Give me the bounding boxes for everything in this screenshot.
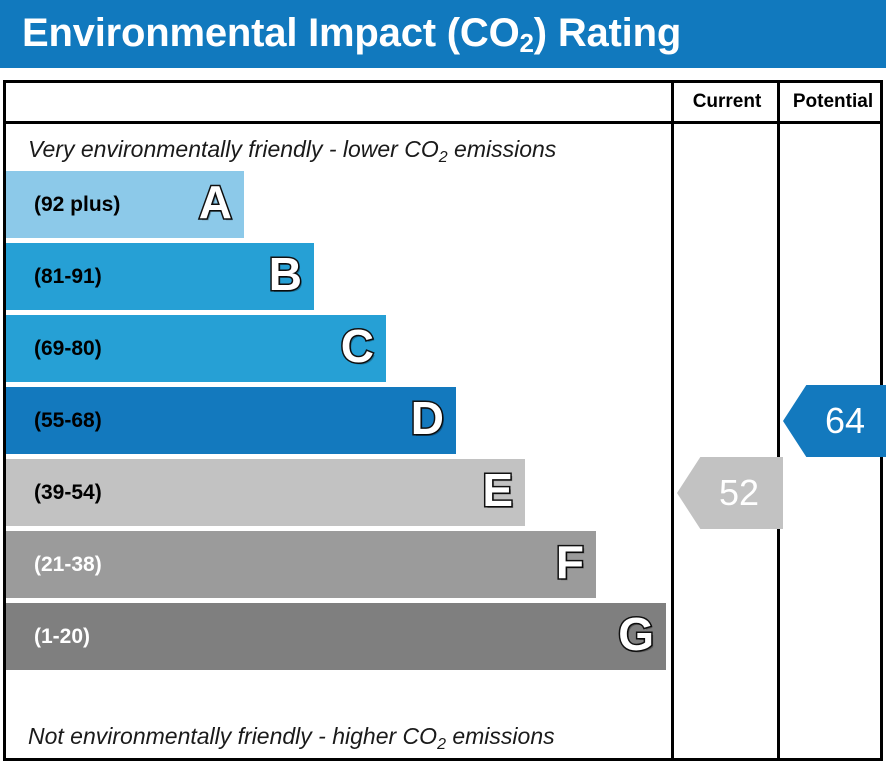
epc-environmental-impact-chart: Environmental Impact (CO2) Rating Curren… bbox=[0, 0, 886, 764]
band-bar-list: (92 plus) A (81-91) B (69-80) C bbox=[6, 171, 671, 675]
column-divider-potential bbox=[777, 124, 780, 758]
caption-top-tail: emissions bbox=[448, 136, 557, 162]
potential-rating-arrow: 64 bbox=[783, 385, 886, 457]
column-divider-current bbox=[671, 124, 674, 758]
band-row-a: (92 plus) A bbox=[6, 171, 671, 238]
band-graph: Very environmentally friendly - lower CO… bbox=[6, 124, 671, 758]
band-bar-a: (92 plus) A bbox=[6, 171, 244, 238]
caption-top-subscript: 2 bbox=[439, 149, 448, 166]
band-bar-b: (81-91) B bbox=[6, 243, 314, 310]
band-letter-b: B bbox=[269, 243, 302, 310]
column-header-current: Current bbox=[671, 83, 780, 121]
band-letter-f: F bbox=[556, 531, 584, 598]
band-bar-f: (21-38) F bbox=[6, 531, 596, 598]
column-header-potential: Potential bbox=[777, 83, 886, 121]
band-range-g: (1-20) bbox=[34, 603, 90, 670]
band-bar-d: (55-68) D bbox=[6, 387, 456, 454]
page-title: Environmental Impact (CO2) Rating bbox=[22, 7, 681, 63]
band-range-f: (21-38) bbox=[34, 531, 102, 598]
caption-bottom-tail: emissions bbox=[446, 723, 555, 749]
band-range-c: (69-80) bbox=[34, 315, 102, 382]
band-letter-a: A bbox=[199, 171, 232, 238]
band-bar-e: (39-54) E bbox=[6, 459, 525, 526]
band-bar-c: (69-80) C bbox=[6, 315, 386, 382]
band-range-e: (39-54) bbox=[34, 459, 102, 526]
caption-top: Very environmentally friendly - lower CO… bbox=[28, 136, 556, 163]
band-letter-d: D bbox=[411, 387, 444, 454]
current-rating-arrow: 52 bbox=[677, 457, 783, 529]
band-letter-c: C bbox=[341, 315, 374, 382]
rating-table: Current Potential Very environmentally f… bbox=[3, 80, 883, 761]
page-title-subscript: 2 bbox=[520, 28, 534, 58]
table-header-row: Current Potential bbox=[6, 83, 880, 124]
title-banner: Environmental Impact (CO2) Rating bbox=[0, 0, 886, 68]
band-bar-g: (1-20) G bbox=[6, 603, 666, 670]
band-letter-g: G bbox=[618, 603, 654, 670]
band-row-g: (1-20) G bbox=[6, 603, 671, 670]
caption-bottom-subscript: 2 bbox=[437, 736, 446, 753]
caption-top-main: Very environmentally friendly - lower CO bbox=[28, 136, 439, 162]
caption-bottom: Not environmentally friendly - higher CO… bbox=[28, 723, 555, 750]
band-letter-e: E bbox=[482, 459, 513, 526]
band-row-c: (69-80) C bbox=[6, 315, 671, 382]
band-range-a: (92 plus) bbox=[34, 171, 120, 238]
caption-bottom-main: Not environmentally friendly - higher CO bbox=[28, 723, 437, 749]
page-title-main: Environmental Impact (CO bbox=[22, 11, 520, 55]
page-title-tail: ) Rating bbox=[534, 11, 681, 55]
band-row-b: (81-91) B bbox=[6, 243, 671, 310]
band-row-f: (21-38) F bbox=[6, 531, 671, 598]
band-range-d: (55-68) bbox=[34, 387, 102, 454]
band-row-d: (55-68) D bbox=[6, 387, 671, 454]
band-range-b: (81-91) bbox=[34, 243, 102, 310]
band-row-e: (39-54) E bbox=[6, 459, 671, 526]
